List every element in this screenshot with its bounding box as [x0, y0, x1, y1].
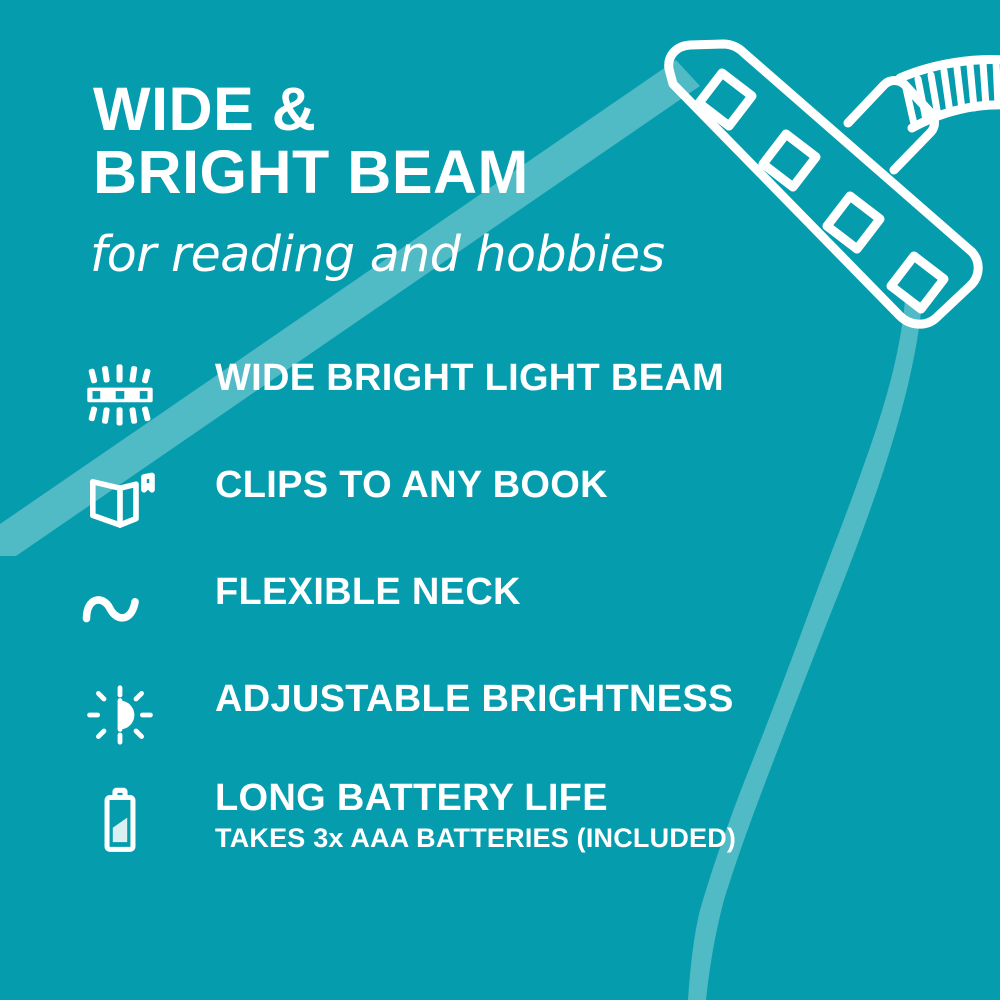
wave-icon — [72, 570, 168, 646]
feature-label: ADJUSTABLE BRIGHTNESS — [215, 677, 975, 721]
feature-text: FLEXIBLE NECK — [215, 570, 975, 614]
feature-sublabel: TAKES 3x AAA BATTERIES (INCLUDED) — [215, 822, 975, 854]
feature-label: LONG BATTERY LIFE — [215, 776, 975, 820]
feature-item-adjustable-brightness: ADJUSTABLE BRIGHTNESS — [0, 677, 1000, 784]
feature-item-wide-bright-light-beam: WIDE BRIGHT LIGHT BEAM — [0, 356, 1000, 463]
infographic-canvas: WIDE & BRIGHT BEAM for reading and hobbi… — [0, 0, 1000, 1000]
feature-label: CLIPS TO ANY BOOK — [215, 463, 975, 507]
feature-text: CLIPS TO ANY BOOK — [215, 463, 975, 507]
light-bar-icon — [72, 356, 168, 432]
feature-list: WIDE BRIGHT LIGHT BEAM C — [0, 356, 1000, 891]
feature-text: ADJUSTABLE BRIGHTNESS — [215, 677, 975, 721]
battery-icon — [72, 784, 168, 860]
half-sun-icon — [72, 677, 168, 753]
feature-label: WIDE BRIGHT LIGHT BEAM — [215, 356, 975, 400]
feature-item-flexible-neck: FLEXIBLE NECK — [0, 570, 1000, 677]
page-title: WIDE & BRIGHT BEAM — [93, 78, 529, 204]
feature-label: FLEXIBLE NECK — [215, 570, 975, 614]
feature-text: LONG BATTERY LIFE TAKES 3x AAA BATTERIES… — [215, 776, 975, 854]
feature-item-long-battery-life: LONG BATTERY LIFE TAKES 3x AAA BATTERIES… — [0, 784, 1000, 891]
open-book-icon — [72, 463, 168, 539]
page-subtitle: for reading and hobbies — [90, 226, 665, 283]
feature-item-clips-to-any-book: CLIPS TO ANY BOOK — [0, 463, 1000, 570]
feature-text: WIDE BRIGHT LIGHT BEAM — [215, 356, 975, 400]
content-layer: WIDE & BRIGHT BEAM for reading and hobbi… — [0, 0, 1000, 1000]
